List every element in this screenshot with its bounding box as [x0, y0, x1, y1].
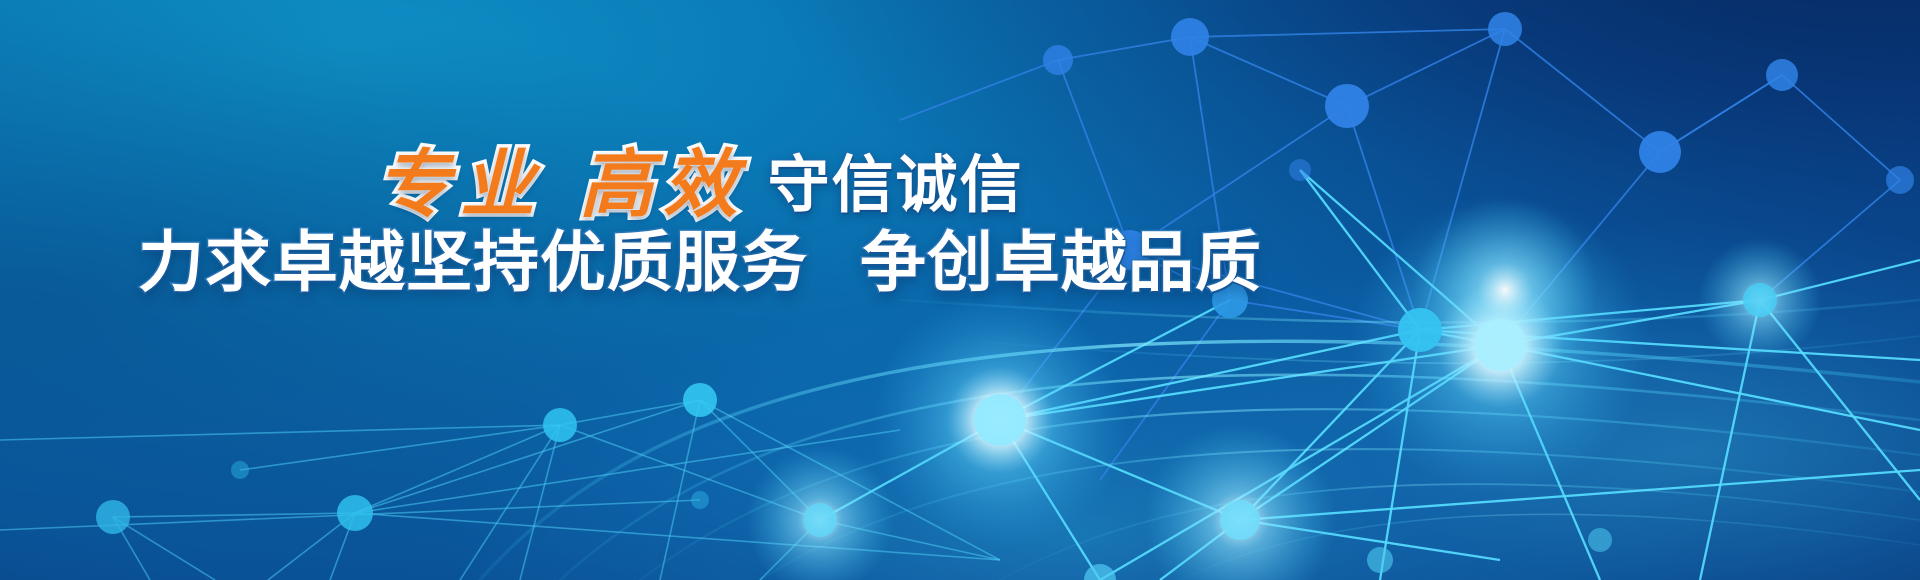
- banner-copy: 专业 高效 守信诚信 力求卓越坚持优质服务 争创卓越品质: [0, 148, 1400, 297]
- headline-brush-word-2: 高效: [579, 142, 747, 228]
- globe-arcs: [480, 300, 1920, 580]
- headline-brush-word-1: 专业: [376, 142, 544, 228]
- subheadline-segment-2: 争创卓越品质: [860, 224, 1262, 301]
- promo-banner: 专业 高效 守信诚信 力求卓越坚持优质服务 争创卓越品质: [0, 0, 1920, 580]
- mesh-bright-right: [820, 170, 1920, 580]
- background-top-right-shade: [0, 0, 1920, 580]
- subheadline: 力求卓越坚持优质服务 争创卓越品质: [0, 228, 1400, 297]
- subheadline-segment-1: 力求卓越坚持优质服务: [138, 224, 808, 301]
- background-left-wash: [0, 0, 1920, 580]
- background-base-gradient: [0, 0, 1920, 580]
- headline: 专业 高效 守信诚信: [0, 148, 1400, 222]
- background-vignette: [0, 0, 1920, 580]
- background-bottom-glow: [0, 0, 1920, 580]
- mesh-lower-left: [0, 400, 1000, 580]
- network-nodes: [96, 12, 1914, 580]
- glow-hotspots: [746, 195, 1822, 580]
- mesh-upper-right: [900, 29, 1900, 480]
- background-right-glow: [0, 0, 1920, 580]
- headline-white-tail: 守信诚信: [768, 148, 1024, 221]
- network-graphic: [0, 0, 1920, 580]
